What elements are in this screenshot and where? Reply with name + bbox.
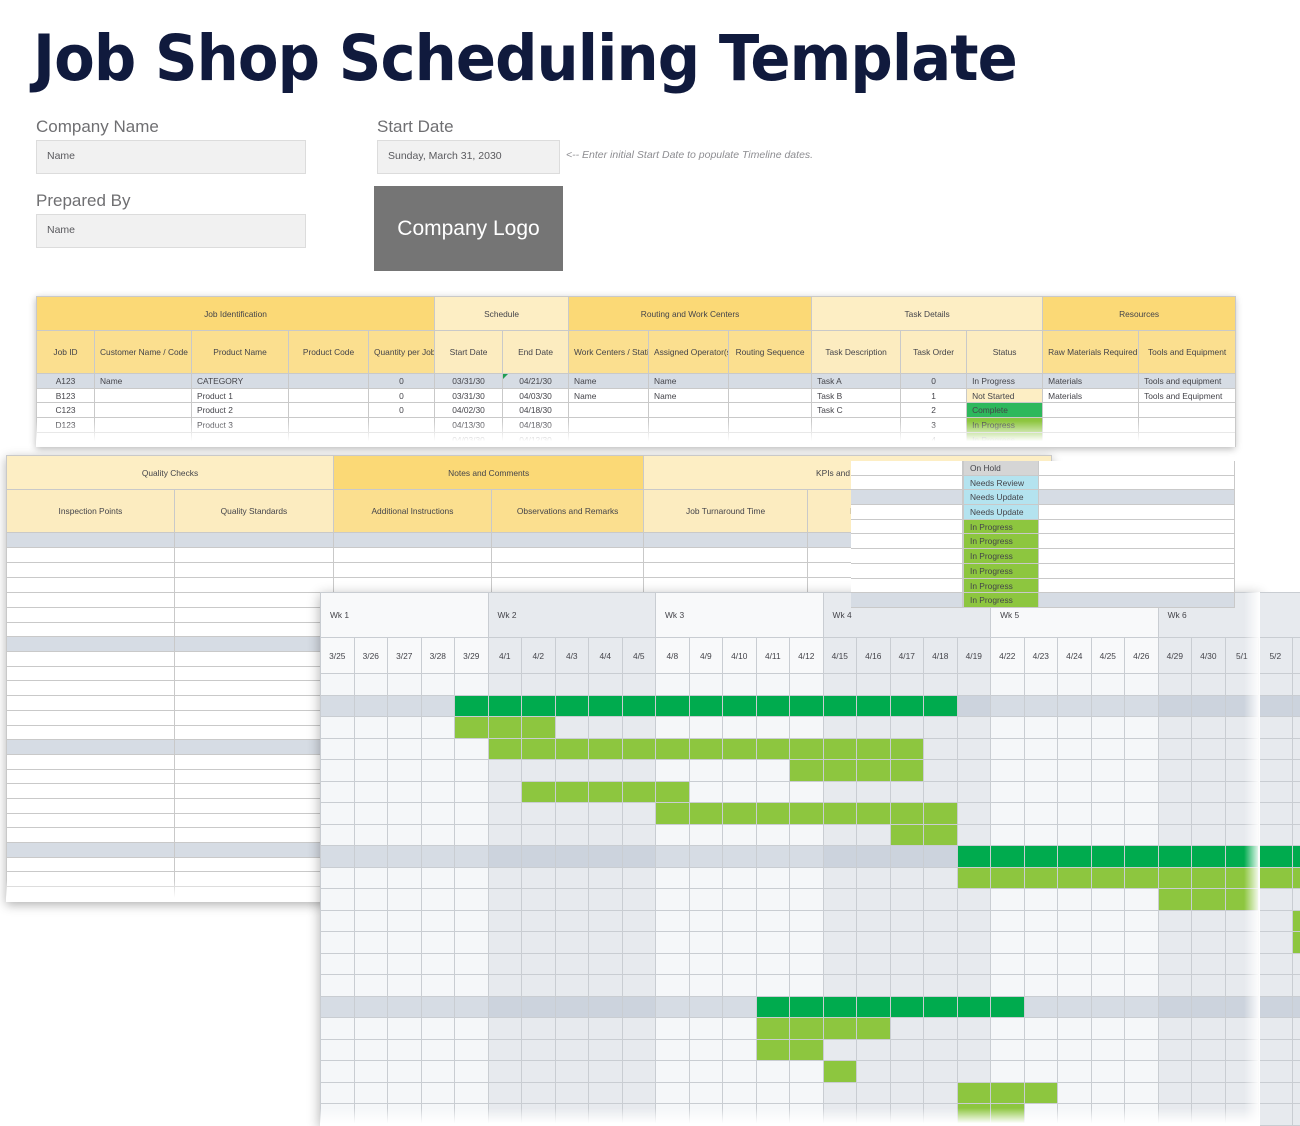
gantt-bar-segment bbox=[1259, 846, 1293, 868]
gantt-cell bbox=[790, 932, 824, 954]
gantt-bar-segment bbox=[1292, 932, 1300, 954]
gantt-cell bbox=[421, 867, 455, 889]
gantt-cell bbox=[991, 803, 1025, 825]
gantt-cell bbox=[388, 717, 422, 739]
gantt-cell bbox=[1259, 932, 1293, 954]
cell-qty: 0 bbox=[369, 388, 435, 403]
gantt-cell bbox=[857, 1039, 891, 1061]
gantt-cell bbox=[555, 1039, 589, 1061]
gantt-cell bbox=[1125, 674, 1159, 696]
cell-task_order: 4 bbox=[901, 432, 967, 447]
status-badge: On Hold bbox=[963, 461, 1039, 476]
gantt-bar-segment bbox=[455, 695, 489, 717]
gantt-cell bbox=[689, 1018, 723, 1040]
gantt-cell bbox=[991, 695, 1025, 717]
main-table-body[interactable]: A123NameCATEGORY003/31/3004/21/30NameNam… bbox=[37, 374, 1236, 447]
cell-r5c1 bbox=[174, 608, 333, 623]
gantt-cell bbox=[1125, 695, 1159, 717]
gantt-cell bbox=[455, 1018, 489, 1040]
gantt-cell bbox=[388, 1039, 422, 1061]
gantt-cell bbox=[1091, 695, 1125, 717]
column-header-2: Product Name bbox=[192, 331, 289, 374]
gantt-cell bbox=[1259, 910, 1293, 932]
gantt-cell bbox=[756, 932, 790, 954]
gantt-row[interactable] bbox=[321, 824, 1300, 846]
gantt-cell bbox=[1225, 781, 1259, 803]
filler-row bbox=[851, 476, 962, 491]
gantt-cell bbox=[991, 1061, 1025, 1083]
gantt-bar-segment bbox=[957, 1104, 991, 1126]
gantt-row[interactable] bbox=[321, 738, 1300, 760]
gantt-cell bbox=[1225, 824, 1259, 846]
gantt-row[interactable] bbox=[321, 1082, 1300, 1104]
gantt-cell bbox=[589, 910, 623, 932]
cell-product: CATEGORY bbox=[192, 374, 289, 389]
gantt-body[interactable] bbox=[321, 674, 1300, 1126]
gantt-cell bbox=[1192, 932, 1226, 954]
gantt-bar-segment bbox=[890, 738, 924, 760]
gantt-cell bbox=[388, 781, 422, 803]
timeline-gantt-sheet[interactable]: Wk 1Wk 2Wk 3Wk 4Wk 5Wk 6Wk 7 3/253/263/2… bbox=[320, 592, 1260, 1126]
table-row[interactable]: C123Product 2004/02/3004/18/30Task C2Com… bbox=[37, 403, 1236, 418]
gantt-cell bbox=[1292, 975, 1300, 997]
gantt-week-2: Wk 2 bbox=[488, 593, 656, 638]
gantt-cell bbox=[1259, 695, 1293, 717]
gantt-cell bbox=[823, 717, 857, 739]
gantt-cell bbox=[522, 1018, 556, 1040]
gantt-cell bbox=[321, 1061, 355, 1083]
gantt-cell bbox=[1225, 695, 1259, 717]
gantt-row[interactable] bbox=[321, 1104, 1300, 1126]
gantt-cell bbox=[455, 824, 489, 846]
gantt-bar-segment bbox=[823, 996, 857, 1018]
gantt-row[interactable] bbox=[321, 717, 1300, 739]
gantt-cell bbox=[555, 674, 589, 696]
gantt-cell bbox=[723, 932, 757, 954]
status-badge: In Progress bbox=[963, 549, 1039, 564]
filler-row bbox=[1039, 461, 1234, 476]
status-badge: In Progress bbox=[963, 593, 1039, 608]
gantt-cell bbox=[991, 910, 1025, 932]
gantt-cell bbox=[488, 1082, 522, 1104]
gantt-cell bbox=[957, 695, 991, 717]
gantt-cell bbox=[689, 867, 723, 889]
cell-r19c0 bbox=[7, 813, 175, 828]
gantt-bar-segment bbox=[991, 846, 1025, 868]
cell-tools: Tools and Equipment bbox=[1139, 388, 1236, 403]
cell-r8c0 bbox=[7, 652, 175, 667]
gantt-cell bbox=[455, 975, 489, 997]
gantt-bar-segment bbox=[924, 996, 958, 1018]
cell-customer bbox=[95, 403, 192, 418]
cell-r2c4 bbox=[644, 563, 807, 578]
job-details-table: Job IdentificationScheduleRouting and Wo… bbox=[36, 296, 1236, 447]
gantt-cell bbox=[354, 975, 388, 997]
gantt-bar-segment bbox=[790, 738, 824, 760]
gantt-cell bbox=[1024, 1039, 1058, 1061]
cell-r3c2 bbox=[333, 578, 491, 593]
cell-start: 03/31/30 bbox=[435, 374, 503, 389]
cell-status: In Progress bbox=[967, 432, 1043, 447]
gantt-row[interactable] bbox=[321, 781, 1300, 803]
gantt-cell bbox=[1225, 1039, 1259, 1061]
gantt-cell bbox=[421, 1018, 455, 1040]
gantt-cell bbox=[890, 717, 924, 739]
gantt-cell bbox=[957, 975, 991, 997]
gantt-cell bbox=[589, 975, 623, 997]
gantt-day-4-15: 4/15 bbox=[823, 638, 857, 674]
gantt-cell bbox=[756, 1061, 790, 1083]
gantt-cell bbox=[991, 1018, 1025, 1040]
cell-task_order: 0 bbox=[901, 374, 967, 389]
gantt-cell bbox=[589, 1104, 623, 1126]
gantt-cell bbox=[756, 717, 790, 739]
gantt-row[interactable] bbox=[321, 996, 1300, 1018]
gantt-cell bbox=[321, 803, 355, 825]
gantt-cell bbox=[1192, 953, 1226, 975]
column-header-10: Task Description bbox=[812, 331, 901, 374]
cell-task_desc: Task C bbox=[812, 403, 901, 418]
gantt-cell bbox=[1259, 781, 1293, 803]
gantt-day-4-16: 4/16 bbox=[857, 638, 891, 674]
cell-product: Product 3 bbox=[192, 418, 289, 433]
gantt-cell bbox=[823, 910, 857, 932]
gantt-cell bbox=[388, 975, 422, 997]
gantt-bar-segment bbox=[1292, 867, 1300, 889]
gantt-bar-segment bbox=[823, 1061, 857, 1083]
company-logo-placeholder[interactable]: Company Logo bbox=[374, 186, 563, 271]
gantt-cell bbox=[957, 781, 991, 803]
gantt-cell bbox=[991, 889, 1025, 911]
gantt-cell bbox=[622, 1082, 656, 1104]
gantt-cell bbox=[321, 953, 355, 975]
gantt-cell bbox=[857, 932, 891, 954]
gantt-cell bbox=[1125, 738, 1159, 760]
filler-row bbox=[851, 490, 962, 505]
gantt-row[interactable] bbox=[321, 932, 1300, 954]
gantt-row[interactable] bbox=[321, 910, 1300, 932]
gantt-cell bbox=[790, 717, 824, 739]
gantt-bar-segment bbox=[1192, 889, 1226, 911]
cell-materials bbox=[1043, 418, 1139, 433]
company-name-input[interactable]: Name bbox=[36, 140, 306, 174]
gantt-bar-segment bbox=[890, 824, 924, 846]
gantt-bar-segment bbox=[622, 738, 656, 760]
gantt-cell bbox=[421, 889, 455, 911]
gantt-cell bbox=[1158, 760, 1192, 782]
gantt-cell bbox=[1292, 996, 1300, 1018]
gantt-cell bbox=[555, 1018, 589, 1040]
gantt-cell bbox=[455, 1039, 489, 1061]
gantt-cell bbox=[589, 889, 623, 911]
gantt-cell bbox=[957, 717, 991, 739]
cell-r3c4 bbox=[644, 578, 807, 593]
gantt-cell bbox=[388, 824, 422, 846]
table-row[interactable]: 04/03/3004/12/304In Progress bbox=[37, 432, 1236, 447]
gantt-cell bbox=[1125, 1082, 1159, 1104]
gantt-cell bbox=[1024, 803, 1058, 825]
gantt-day-4-24: 4/24 bbox=[1058, 638, 1092, 674]
gantt-cell bbox=[455, 1061, 489, 1083]
gantt-cell bbox=[689, 975, 723, 997]
cell-r10c0 bbox=[7, 681, 175, 696]
cell-task_desc: Task A bbox=[812, 374, 901, 389]
main-group-header-row: Job IdentificationScheduleRouting and Wo… bbox=[37, 297, 1236, 331]
gantt-cell bbox=[656, 846, 690, 868]
gantt-cell bbox=[857, 910, 891, 932]
gantt-cell bbox=[689, 1104, 723, 1126]
table-row[interactable]: D123Product 304/13/3004/18/303In Progres… bbox=[37, 418, 1236, 433]
cell-r21c1 bbox=[174, 843, 333, 858]
gantt-cell bbox=[689, 910, 723, 932]
gantt-cell bbox=[857, 717, 891, 739]
gantt-cell bbox=[522, 674, 556, 696]
cell-task_order: 3 bbox=[901, 418, 967, 433]
gantt-cell bbox=[790, 889, 824, 911]
gantt-cell bbox=[689, 1039, 723, 1061]
gantt-cell bbox=[455, 846, 489, 868]
column-header-3: Product Code bbox=[289, 331, 369, 374]
gantt-cell bbox=[455, 953, 489, 975]
second-column-header-3: Observations and Remarks bbox=[491, 490, 643, 533]
gantt-row[interactable] bbox=[321, 1039, 1300, 1061]
gantt-bar-segment bbox=[488, 717, 522, 739]
gantt-row[interactable] bbox=[321, 760, 1300, 782]
gantt-cell bbox=[321, 717, 355, 739]
cell-product_code bbox=[289, 432, 369, 447]
gantt-cell bbox=[1259, 975, 1293, 997]
gantt-bar-segment bbox=[823, 695, 857, 717]
gantt-row[interactable] bbox=[321, 867, 1300, 889]
gantt-cell bbox=[388, 889, 422, 911]
gantt-cell bbox=[823, 889, 857, 911]
gantt-cell bbox=[589, 824, 623, 846]
gantt-cell bbox=[622, 760, 656, 782]
gantt-cell bbox=[1024, 889, 1058, 911]
start-date-input[interactable]: Sunday, March 31, 2030 bbox=[377, 140, 560, 174]
gantt-row[interactable] bbox=[321, 975, 1300, 997]
cell-r1c2 bbox=[333, 548, 491, 563]
gantt-bar-segment bbox=[890, 760, 924, 782]
status-badge: Needs Update bbox=[963, 505, 1039, 520]
gantt-cell bbox=[555, 1104, 589, 1126]
gantt-bar-segment bbox=[1192, 867, 1226, 889]
column-header-4: Quantity per Job bbox=[369, 331, 435, 374]
gantt-cell bbox=[1225, 1104, 1259, 1126]
gantt-cell bbox=[1192, 674, 1226, 696]
gantt-row[interactable] bbox=[321, 674, 1300, 696]
gantt-cell bbox=[723, 996, 757, 1018]
gantt-cell bbox=[488, 996, 522, 1018]
gantt-cell bbox=[488, 760, 522, 782]
gantt-cell bbox=[1192, 803, 1226, 825]
gantt-cell bbox=[924, 953, 958, 975]
cell-status: Complete bbox=[967, 403, 1043, 418]
gantt-cell bbox=[488, 781, 522, 803]
gantt-cell bbox=[1024, 1061, 1058, 1083]
gantt-cell bbox=[890, 889, 924, 911]
gantt-day-3-26: 3/26 bbox=[354, 638, 388, 674]
gantt-cell bbox=[823, 781, 857, 803]
gantt-bar-segment bbox=[991, 1104, 1025, 1126]
cell-routing bbox=[729, 374, 812, 389]
cell-r16c1 bbox=[174, 769, 333, 784]
cell-r2c3 bbox=[491, 563, 643, 578]
gantt-row[interactable] bbox=[321, 889, 1300, 911]
gantt-bar-segment bbox=[857, 1018, 891, 1040]
gantt-cell bbox=[1024, 674, 1058, 696]
gantt-cell bbox=[421, 824, 455, 846]
gantt-cell bbox=[1058, 1018, 1092, 1040]
gantt-bar-segment bbox=[656, 781, 690, 803]
gantt-cell bbox=[1058, 910, 1092, 932]
cell-product_code bbox=[289, 403, 369, 418]
cell-job_id: C123 bbox=[37, 403, 95, 418]
gantt-cell bbox=[455, 1082, 489, 1104]
status-badge: In Progress bbox=[963, 534, 1039, 549]
gantt-row[interactable] bbox=[321, 1061, 1300, 1083]
gantt-row[interactable] bbox=[321, 846, 1300, 868]
prepared-by-input[interactable]: Name bbox=[36, 214, 306, 248]
job-details-sheet[interactable]: Job IdentificationScheduleRouting and Wo… bbox=[36, 296, 1235, 447]
cell-work_center bbox=[569, 432, 649, 447]
gantt-cell bbox=[488, 803, 522, 825]
cell-r10c1 bbox=[174, 681, 333, 696]
gantt-cell bbox=[388, 760, 422, 782]
gantt-cell bbox=[1158, 1104, 1192, 1126]
gantt-cell bbox=[1058, 738, 1092, 760]
gantt-cell bbox=[991, 674, 1025, 696]
gantt-bar-segment bbox=[1091, 867, 1125, 889]
prepared-by-label: Prepared By bbox=[36, 191, 131, 211]
cell-r4c1 bbox=[174, 593, 333, 608]
gantt-bar-segment bbox=[756, 738, 790, 760]
gantt-cell bbox=[689, 1061, 723, 1083]
gantt-row[interactable] bbox=[321, 1018, 1300, 1040]
gantt-cell bbox=[488, 867, 522, 889]
gantt-cell bbox=[1091, 1039, 1125, 1061]
gantt-cell bbox=[1158, 996, 1192, 1018]
gantt-cell bbox=[957, 803, 991, 825]
cell-routing bbox=[729, 418, 812, 433]
gantt-cell bbox=[1091, 996, 1125, 1018]
gantt-cell bbox=[555, 953, 589, 975]
gantt-day-4-29: 4/29 bbox=[1158, 638, 1192, 674]
gantt-cell bbox=[1225, 1061, 1259, 1083]
gantt-cell bbox=[555, 824, 589, 846]
cell-r4c0 bbox=[7, 593, 175, 608]
gantt-bar-segment bbox=[991, 996, 1025, 1018]
gantt-cell bbox=[555, 975, 589, 997]
gantt-cell bbox=[890, 910, 924, 932]
gantt-cell bbox=[622, 1061, 656, 1083]
gantt-cell bbox=[656, 824, 690, 846]
gantt-cell bbox=[1058, 674, 1092, 696]
gantt-row[interactable] bbox=[321, 953, 1300, 975]
status-badge: In Progress bbox=[963, 520, 1039, 535]
gantt-cell bbox=[689, 953, 723, 975]
cell-job_id: A123 bbox=[37, 374, 95, 389]
column-header-12: Status bbox=[967, 331, 1043, 374]
gantt-bar-segment bbox=[890, 996, 924, 1018]
gantt-cell bbox=[656, 1104, 690, 1126]
second-column-header-1: Quality Standards bbox=[174, 490, 333, 533]
cell-r3c3 bbox=[491, 578, 643, 593]
gantt-cell bbox=[1259, 1039, 1293, 1061]
gantt-cell bbox=[890, 674, 924, 696]
group-header-3: Task Details bbox=[812, 297, 1043, 331]
gantt-cell bbox=[321, 932, 355, 954]
column-header-13: Raw Materials Required bbox=[1043, 331, 1139, 374]
gantt-cell bbox=[388, 695, 422, 717]
gantt-cell bbox=[1091, 1018, 1125, 1040]
gantt-cell bbox=[354, 1018, 388, 1040]
gantt-cell bbox=[421, 738, 455, 760]
cell-r6c1 bbox=[174, 622, 333, 637]
gantt-cell bbox=[321, 1082, 355, 1104]
gantt-cell bbox=[1024, 717, 1058, 739]
gantt-cell bbox=[589, 717, 623, 739]
gantt-cell bbox=[1225, 674, 1259, 696]
cell-product_code bbox=[289, 374, 369, 389]
gantt-cell bbox=[522, 975, 556, 997]
cell-end: 04/18/30 bbox=[503, 418, 569, 433]
gantt-cell bbox=[857, 975, 891, 997]
gantt-cell bbox=[924, 846, 958, 868]
gantt-cell bbox=[1192, 975, 1226, 997]
gantt-row[interactable] bbox=[321, 695, 1300, 717]
table-row[interactable]: B123Product 1003/31/3004/03/30NameNameTa… bbox=[37, 388, 1236, 403]
gantt-cell bbox=[1125, 1104, 1159, 1126]
cell-r23c0 bbox=[7, 872, 175, 887]
table-row[interactable]: A123NameCATEGORY003/31/3004/21/30NameNam… bbox=[37, 374, 1236, 389]
cell-r15c0 bbox=[7, 754, 175, 769]
gantt-cell bbox=[723, 889, 757, 911]
gantt-cell bbox=[1158, 910, 1192, 932]
cell-start: 03/31/30 bbox=[435, 388, 503, 403]
cell-product_code bbox=[289, 388, 369, 403]
gantt-cell bbox=[555, 910, 589, 932]
gantt-day-4-11: 4/11 bbox=[756, 638, 790, 674]
gantt-bar-segment bbox=[790, 996, 824, 1018]
gantt-cell bbox=[455, 803, 489, 825]
gantt-cell bbox=[622, 674, 656, 696]
cell-r24c1 bbox=[174, 887, 333, 902]
cell-operator bbox=[649, 418, 729, 433]
cell-task_order: 1 bbox=[901, 388, 967, 403]
column-header-11: Task Order bbox=[901, 331, 967, 374]
cell-start: 04/13/30 bbox=[435, 418, 503, 433]
gantt-bar-segment bbox=[555, 695, 589, 717]
gantt-cell bbox=[991, 717, 1025, 739]
column-header-7: Work Centers / Stations bbox=[569, 331, 649, 374]
gantt-bar-segment bbox=[589, 695, 623, 717]
cell-r22c0 bbox=[7, 857, 175, 872]
gantt-cell bbox=[991, 824, 1025, 846]
gantt-cell bbox=[957, 953, 991, 975]
gantt-bar-segment bbox=[924, 824, 958, 846]
gantt-cell bbox=[1192, 781, 1226, 803]
gantt-cell bbox=[756, 846, 790, 868]
gantt-cell bbox=[321, 781, 355, 803]
gantt-cell bbox=[1125, 760, 1159, 782]
gantt-cell bbox=[689, 846, 723, 868]
gantt-cell bbox=[857, 1104, 891, 1126]
gantt-row[interactable] bbox=[321, 803, 1300, 825]
cell-operator: Name bbox=[649, 388, 729, 403]
gantt-cell bbox=[924, 1082, 958, 1104]
gantt-cell bbox=[421, 781, 455, 803]
